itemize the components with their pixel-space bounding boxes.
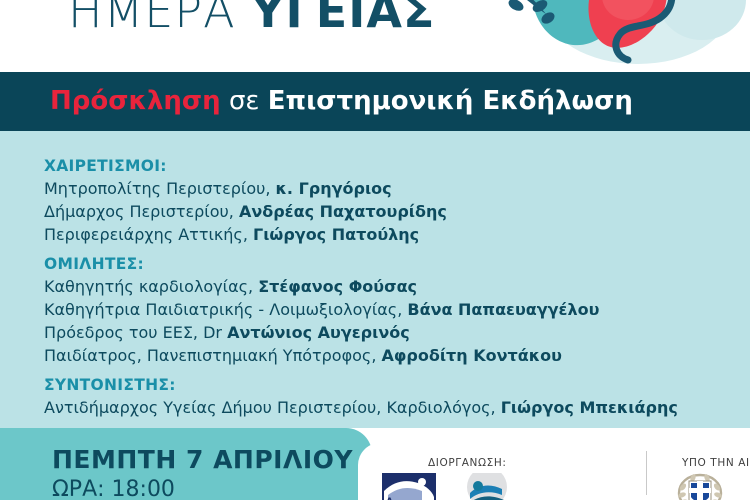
speaker-name: Στέφανος Φούσας — [258, 277, 417, 296]
invitation-plain-word: σε — [229, 86, 260, 116]
greetings-line: Μητροπολίτης Περιστερίου, κ. Γρηγόριος — [44, 177, 447, 200]
greetings-line: Δήμαρχος Περιστερίου, Ανδρέας Παχατουρίδ… — [44, 200, 447, 223]
speaker-role: Παιδίατρος, Πανεπιστημιακή Υπότροφος, — [44, 346, 381, 365]
greek-republic-coat-of-arms-icon — [676, 473, 724, 500]
page-title-bold: ΥΓΕΙΑΣ — [251, 0, 435, 38]
greetings-name: Ανδρέας Παχατουρίδης — [239, 202, 447, 221]
invitation-bold-words: Επιστημονική Εκδήλωση — [268, 86, 633, 116]
invitation-subtitle: Πρόσκληση σε Επιστημονική Εκδήλωση — [50, 86, 633, 116]
speaker-name: Αντώνιος Αυγερινός — [227, 323, 410, 342]
greetings-role: Δήμαρχος Περιστερίου, — [44, 202, 239, 221]
event-time: ΩΡΑ: 18:00 — [52, 477, 175, 503]
speaker-role: Καθηγητής καρδιολογίας, — [44, 277, 258, 296]
moderator-name: Γιώργος Μπεκιάρης — [501, 398, 678, 417]
invitation-red-word: Πρόσκληση — [50, 86, 221, 116]
section-moderator-heading: ΣΥΝΤΟΝΙΣΤΗΣ: — [44, 374, 678, 396]
event-datetime-band: ΠΕΜΠΤΗ 7 ΑΠΡΙΛΙΟΥ ΩΡΑ: 18:00 — [0, 428, 372, 500]
section-moderator: ΣΥΝΤΟΝΙΣΤΗΣ: Αντιδήμαρχος Υγείας Δήμου Π… — [44, 374, 678, 419]
aegis-label: ΥΠΟ ΤΗΝ ΑΙΓΙΔΑ: — [682, 457, 750, 469]
poster-body: ΧΑΙΡΕΤΙΣΜΟΙ: Μητροπολίτης Περιστερίου, κ… — [0, 131, 750, 428]
invitation-band: Πρόσκληση σε Επιστημονική Εκδήλωση — [0, 72, 750, 131]
organizer-label: ΔΙΟΡΓΑΝΩΣΗ: — [428, 457, 506, 469]
speaker-line: Πρόεδρος του ΕΕΣ, Dr Αντώνιος Αυγερινός — [44, 321, 599, 344]
speaker-line: Παιδίατρος, Πανεπιστημιακή Υπότροφος, Αφ… — [44, 344, 599, 367]
greetings-line: Περιφερειάρχης Αττικής, Γιώργος Πατούλης — [44, 223, 447, 246]
speaker-name: Αφροδίτη Κοντάκου — [381, 346, 561, 365]
logo-panel: ΔΙΟΡΓΑΝΩΣΗ: ΥΠΟ ΤΗΝ ΑΙΓΙΔΑ: Δ — [358, 443, 750, 500]
speaker-line: Καθηγητής καρδιολογίας, Στέφανος Φούσας — [44, 275, 599, 298]
section-greetings: ΧΑΙΡΕΤΙΣΜΟΙ: Μητροπολίτης Περιστερίου, κ… — [44, 155, 447, 246]
heart-stethoscope-laurel-icon — [488, 0, 750, 72]
event-date: ΠΕΜΠΤΗ 7 ΑΠΡΙΛΙΟΥ — [52, 446, 353, 474]
section-speakers-heading: ΟΜΙΛΗΤΕΣ: — [44, 253, 599, 275]
greetings-name: Γιώργος Πατούλης — [253, 225, 419, 244]
moderator-role: Αντιδήμαρχος Υγείας Δήμου Περιστερίου, Κ… — [44, 398, 501, 417]
speaker-role: Καθηγήτρια Παιδιατρικής - Λοιμωξιολογίας… — [44, 300, 407, 319]
page-title: ΗΜΕΡΑ ΥΓΕΙΑΣ — [68, 0, 435, 38]
poster-header: ΗΜΕΡΑ ΥΓΕΙΑΣ — [0, 0, 750, 72]
speaker-name: Βάνα Παπαευαγγέλου — [407, 300, 599, 319]
panel-divider — [646, 451, 647, 495]
health-org-circle-logo-icon — [464, 473, 510, 500]
greetings-role: Μητροπολίτης Περιστερίου, — [44, 179, 276, 198]
greetings-role: Περιφερειάρχης Αττικής, — [44, 225, 253, 244]
section-greetings-heading: ΧΑΙΡΕΤΙΣΜΟΙ: — [44, 155, 447, 177]
greetings-name: κ. Γρηγόριος — [276, 179, 392, 198]
speaker-role: Πρόεδρος του ΕΕΣ, Dr — [44, 323, 227, 342]
speaker-line: Καθηγήτρια Παιδιατρικής - Λοιμωξιολογίας… — [44, 298, 599, 321]
moderator-line: Αντιδήμαρχος Υγείας Δήμου Περιστερίου, Κ… — [44, 396, 678, 419]
page-title-light: ΗΜΕΡΑ — [68, 0, 236, 38]
municipality-peristeri-logo-icon: Δ — [382, 473, 436, 500]
section-speakers: ΟΜΙΛΗΤΕΣ: Καθηγητής καρδιολογίας, Στέφαν… — [44, 253, 599, 367]
